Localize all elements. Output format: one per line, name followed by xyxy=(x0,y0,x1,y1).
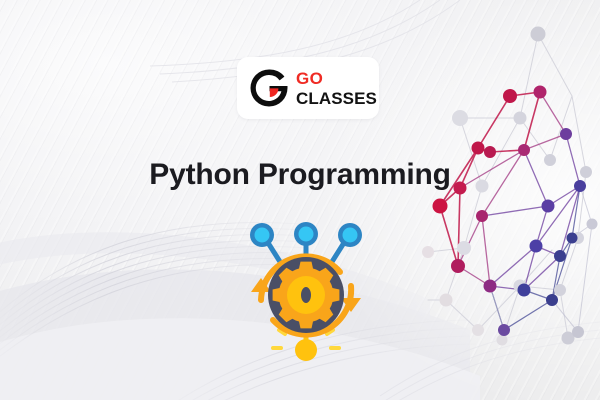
logo-text-classes: CLASSES xyxy=(296,90,377,107)
logo-wordmark: GO CLASSES xyxy=(296,70,377,107)
go-circle-mark-icon xyxy=(248,67,290,109)
go-classes-logo-card: GO CLASSES xyxy=(237,57,379,119)
automation-gear-icon xyxy=(243,216,369,366)
network-mesh-decoration xyxy=(420,0,600,400)
logo-text-go: GO xyxy=(296,70,377,87)
page-title: Python Programming xyxy=(0,158,600,192)
slide-canvas: GO CLASSES Python Programming xyxy=(0,0,600,400)
